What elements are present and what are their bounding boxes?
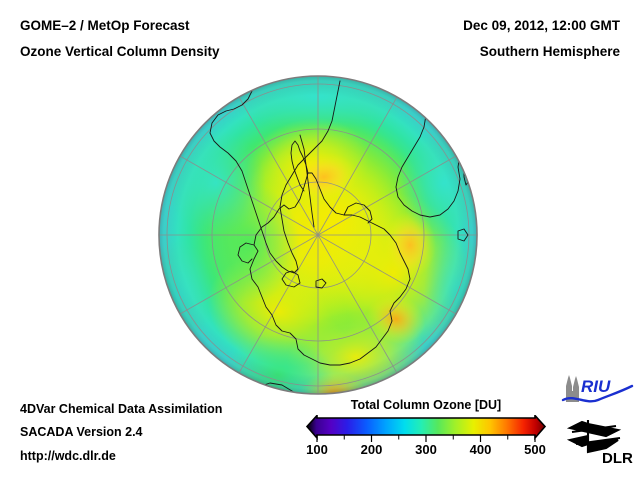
colorbar-title: Total Column Ozone [DU] (305, 398, 547, 412)
colorbar-ramp (307, 416, 545, 439)
colorbar-label-100: 100 (297, 442, 337, 457)
colorbar-label-500: 500 (515, 442, 555, 457)
ozone-map-globe (158, 75, 478, 395)
dlr-mark-icon (570, 420, 620, 452)
footer-version: SACADA Version 2.4 (20, 425, 143, 439)
footer-url[interactable]: http://wdc.dlr.de (20, 449, 116, 463)
riu-logo: RIU (560, 374, 634, 411)
header-datetime: Dec 09, 2012, 12:00 GMT (463, 18, 620, 33)
dlr-logo-svg: DLR (566, 414, 634, 466)
coastline-tasmania (218, 379, 234, 393)
colorbar-label-200: 200 (352, 442, 392, 457)
ozone-map-svg (158, 75, 478, 395)
colorbar-label-400: 400 (461, 442, 501, 457)
figure-canvas: GOME–2 / MetOp Forecast Ozone Vertical C… (0, 0, 640, 480)
header-instrument-title: GOME–2 / MetOp Forecast (20, 18, 190, 33)
colorbar-label-300: 300 (406, 442, 446, 457)
dlr-logo-text: DLR (602, 450, 633, 466)
colorbar-ticks (317, 435, 535, 442)
footer-method: 4DVar Chemical Data Assimilation (20, 402, 222, 416)
colorbar: Total Column Ozone [DU] (305, 398, 547, 470)
riu-logo-svg: RIU (560, 374, 634, 406)
header-region: Southern Hemisphere (480, 44, 620, 59)
dlr-logo: DLR (566, 414, 634, 471)
riu-logo-text: RIU (581, 377, 611, 396)
header-product-title: Ozone Vertical Column Density (20, 44, 220, 59)
coastline-new-zealand (188, 371, 210, 391)
